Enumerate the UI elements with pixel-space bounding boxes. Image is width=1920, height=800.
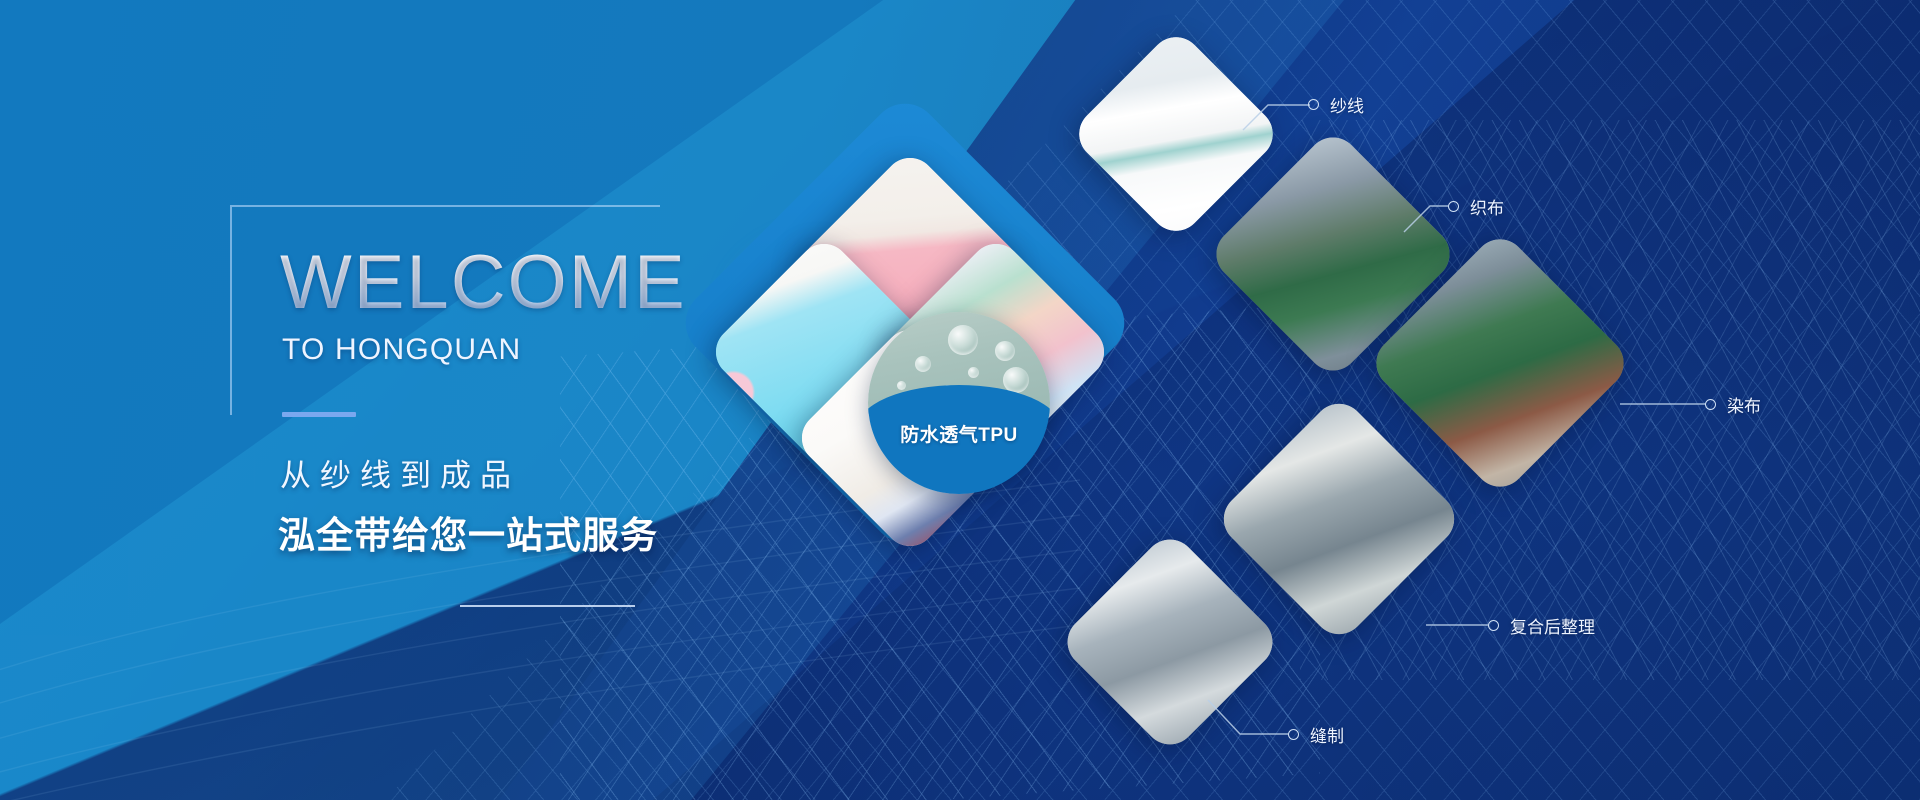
callout-label-dyeing: 染布 bbox=[1727, 392, 1761, 417]
water-drop-icon bbox=[915, 356, 931, 372]
accent-rule bbox=[282, 412, 356, 417]
status-badge: 防水透气TPU bbox=[868, 312, 1050, 494]
callout-dot-icon bbox=[1288, 729, 1299, 740]
callout-dot-icon bbox=[1308, 99, 1319, 110]
bottom-accent-rule bbox=[460, 605, 635, 607]
callout-label-weaving: 织布 bbox=[1470, 194, 1504, 219]
page-subtitle: TO HONGQUAN bbox=[282, 333, 521, 367]
water-drop-icon bbox=[1003, 367, 1029, 393]
water-drop-icon bbox=[948, 325, 978, 355]
tagline-primary: 从纱线到成品 bbox=[280, 450, 520, 495]
callout-dot-icon bbox=[1448, 201, 1459, 212]
hero-banner: WELCOME TO HONGQUAN 从纱线到成品 泓全带给您一站式服务 防水… bbox=[0, 0, 1920, 800]
water-drop-icon bbox=[968, 367, 979, 378]
tagline-secondary: 泓全带给您一站式服务 bbox=[278, 505, 658, 559]
page-title: WELCOME bbox=[280, 245, 687, 321]
callout-label-sewing: 缝制 bbox=[1310, 722, 1344, 747]
callout-dot-icon bbox=[1705, 399, 1716, 410]
callout-label-yarn: 纱线 bbox=[1330, 92, 1364, 117]
callout-label-lamination: 复合后整理 bbox=[1510, 613, 1595, 638]
callout-dot-icon bbox=[1488, 620, 1499, 631]
badge-label: 防水透气TPU bbox=[868, 420, 1050, 447]
